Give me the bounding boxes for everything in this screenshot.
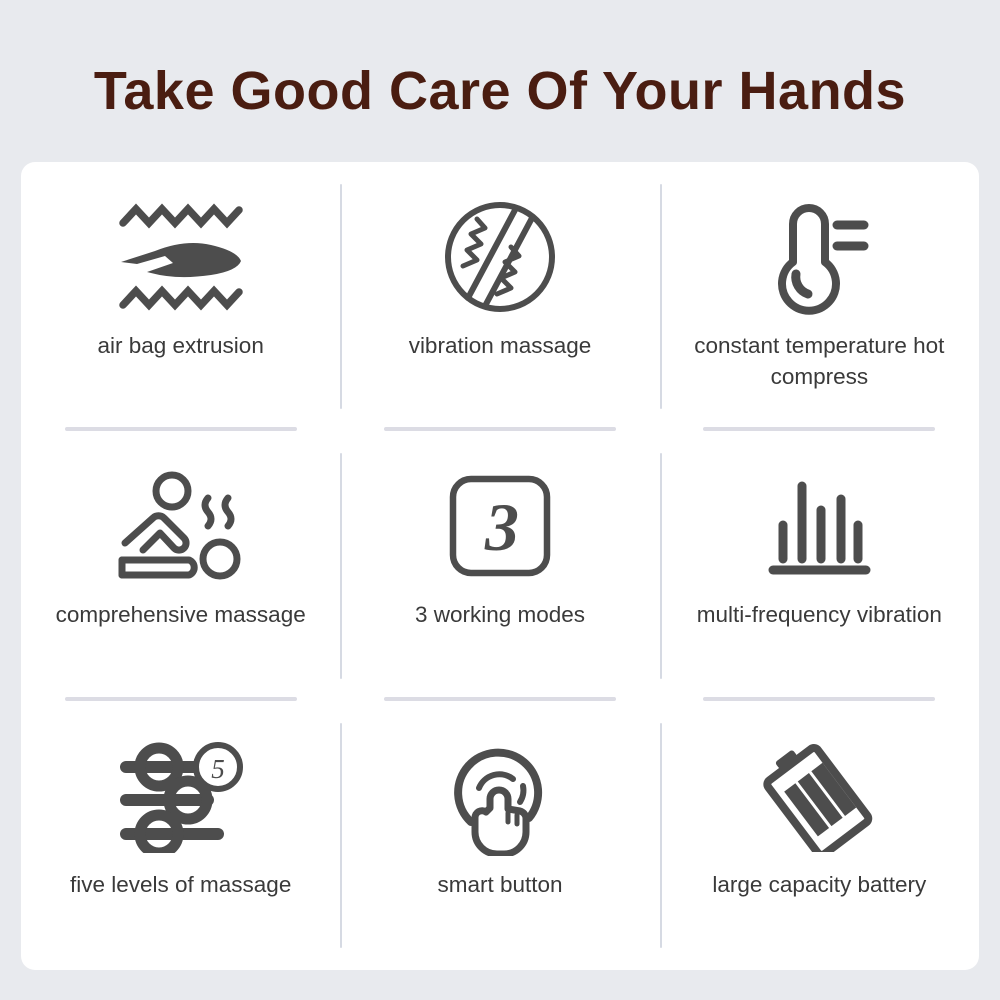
feature-item-vibration-massage[interactable]: vibration massage: [340, 162, 659, 431]
feature-grid: air bag extrusion vibration massage: [21, 162, 979, 970]
page-title: Take Good Care Of Your Hands: [0, 62, 1000, 121]
number-three-square-icon: 3: [448, 463, 552, 589]
feature-label: multi-frequency vibration: [697, 599, 942, 630]
feature-item-three-working-modes[interactable]: 3 3 working modes: [340, 431, 659, 700]
feature-label: air bag extrusion: [97, 330, 263, 361]
feature-item-large-capacity-battery[interactable]: large capacity battery: [660, 701, 979, 970]
circle-diagonal-zigzag-vibration-icon: [441, 194, 559, 320]
feature-item-smart-button[interactable]: smart button: [340, 701, 659, 970]
feature-item-air-bag-extrusion[interactable]: air bag extrusion: [21, 162, 340, 431]
feature-item-multi-frequency-vibration[interactable]: multi-frequency vibration: [660, 431, 979, 700]
feature-label: vibration massage: [409, 330, 592, 361]
hand-tap-touch-icon: [449, 733, 551, 859]
sliders-level-five-icon: 5: [118, 733, 244, 859]
svg-text:3: 3: [484, 489, 519, 565]
person-lying-massage-heat-icon: [113, 463, 249, 589]
feature-label: comprehensive massage: [56, 599, 306, 630]
feature-label: smart button: [437, 869, 562, 900]
feature-label: 3 working modes: [415, 599, 585, 630]
hand-between-vibration-waves-icon: [115, 194, 247, 320]
thermometer-icon: [763, 194, 875, 320]
feature-item-constant-temperature-hot-compress[interactable]: constant temperature hot compress: [660, 162, 979, 431]
frequency-bars-icon: [763, 463, 875, 589]
feature-item-comprehensive-massage[interactable]: comprehensive massage: [21, 431, 340, 700]
feature-label: constant temperature hot compress: [674, 330, 964, 392]
battery-tilted-icon: [762, 733, 876, 859]
feature-item-five-levels-of-massage[interactable]: 5 five levels of massage: [21, 701, 340, 970]
feature-label: five levels of massage: [70, 869, 291, 900]
svg-text:5: 5: [211, 754, 225, 784]
feature-label: large capacity battery: [712, 869, 926, 900]
feature-card: air bag extrusion vibration massage: [21, 162, 979, 970]
